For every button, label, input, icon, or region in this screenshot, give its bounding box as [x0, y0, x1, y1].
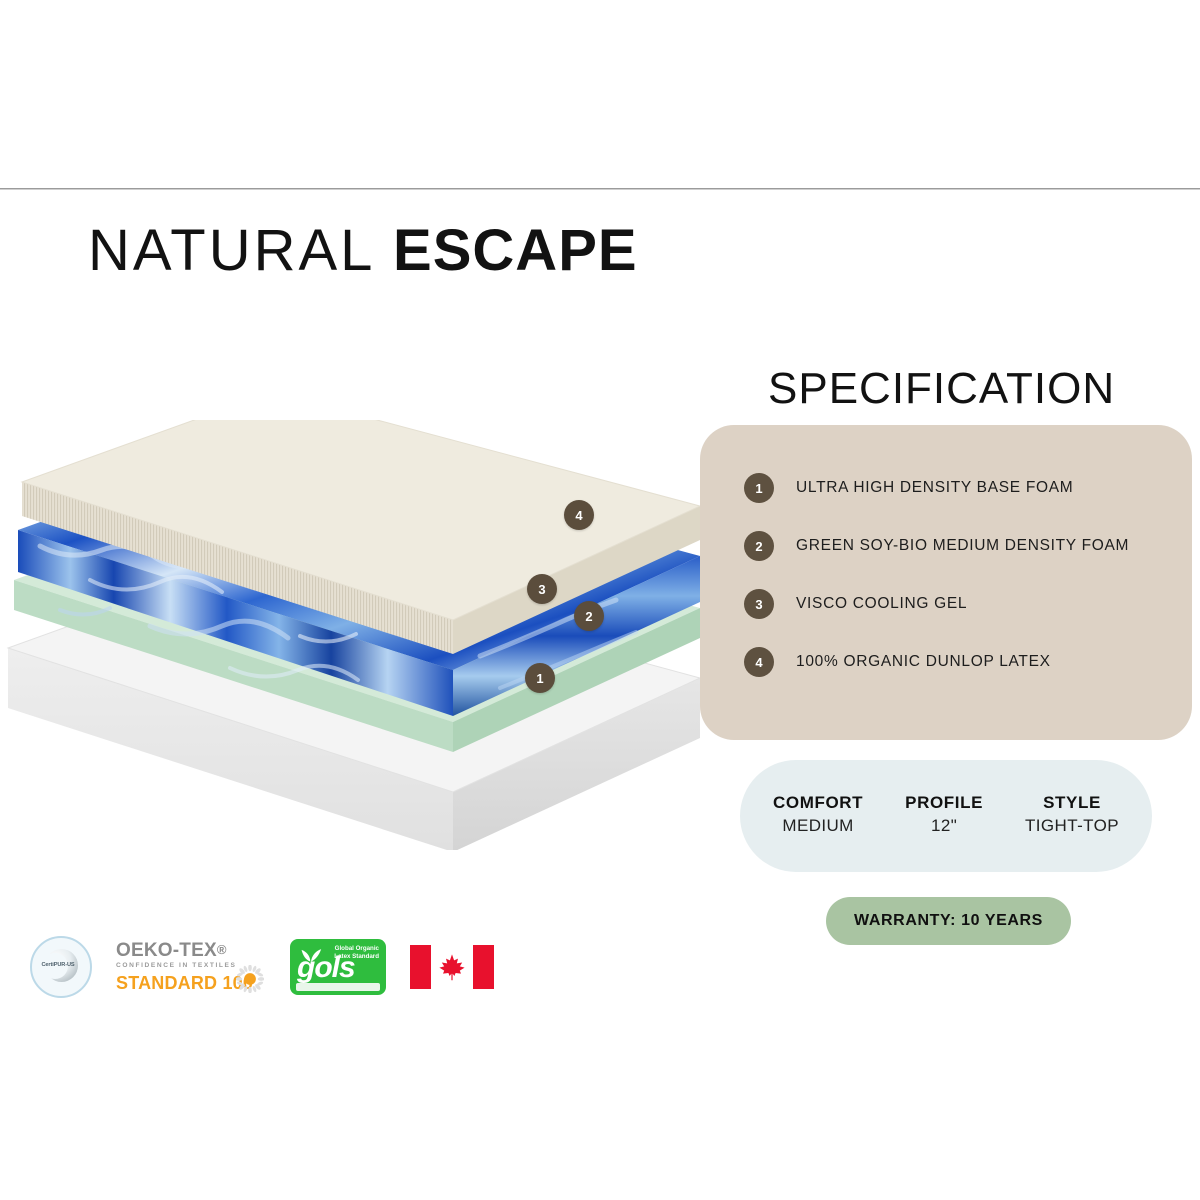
- oeko-tex-icon: OEKO-TEX® CONFIDENCE IN TEXTILES STANDAR…: [116, 941, 266, 993]
- spec-label-4: 100% ORGANIC DUNLOP LATEX: [796, 653, 1051, 671]
- specification-list: 1 ULTRA HIGH DENSITY BASE FOAM 2 GREEN S…: [744, 473, 1184, 677]
- certipur-us-icon: CertiPUR-US: [30, 936, 92, 998]
- diagram-badge-2: 2: [574, 601, 604, 631]
- attribute-style-value: TIGHT-TOP: [1025, 815, 1119, 838]
- attribute-profile-value: 12": [905, 815, 983, 838]
- spec-number-1: 1: [744, 473, 774, 503]
- attributes-pill: COMFORT MEDIUM PROFILE 12" STYLE TIGHT-T…: [740, 760, 1152, 872]
- maple-leaf-icon: [437, 952, 467, 982]
- page-title: NATURAL ESCAPE: [88, 222, 638, 280]
- page-title-bold: ESCAPE: [393, 218, 638, 283]
- flag-center-panel: [431, 945, 473, 989]
- attribute-profile-label: PROFILE: [905, 792, 983, 815]
- attribute-comfort-value: MEDIUM: [773, 815, 863, 838]
- spec-number-4: 4: [744, 647, 774, 677]
- gols-icon: Global Organic Latex Standard gols: [290, 939, 386, 995]
- canada-flag-icon: [410, 945, 494, 989]
- attribute-comfort: COMFORT MEDIUM: [773, 792, 863, 838]
- gols-base-strip: [296, 983, 380, 991]
- certification-logos: CertiPUR-US OEKO-TEX® CONFIDENCE IN TEXT…: [30, 936, 494, 998]
- attribute-profile: PROFILE 12": [905, 792, 983, 838]
- spec-item-3: 3 VISCO COOLING GEL: [744, 589, 1184, 619]
- diagram-badge-4: 4: [564, 500, 594, 530]
- spec-item-1: 1 ULTRA HIGH DENSITY BASE FOAM: [744, 473, 1184, 503]
- product-spec-page: NATURAL ESCAPE: [0, 0, 1200, 1200]
- spec-label-1: ULTRA HIGH DENSITY BASE FOAM: [796, 479, 1073, 497]
- spec-item-4: 4 100% ORGANIC DUNLOP LATEX: [744, 647, 1184, 677]
- sunburst-flower-icon: [236, 965, 264, 993]
- spec-label-2: GREEN SOY-BIO MEDIUM DENSITY FOAM: [796, 537, 1129, 555]
- warranty-badge: WARRANTY: 10 YEARS: [826, 897, 1071, 945]
- spec-label-3: VISCO COOLING GEL: [796, 595, 967, 613]
- spec-number-2: 2: [744, 531, 774, 561]
- page-title-light: NATURAL: [88, 218, 375, 283]
- header-divider: [0, 188, 1200, 190]
- mattress-layers-diagram: [0, 420, 700, 850]
- warranty-text: WARRANTY: 10 YEARS: [854, 912, 1043, 930]
- certipur-us-label: CertiPUR-US: [36, 962, 80, 968]
- oeko-tex-title-text: OEKO-TEX: [116, 940, 217, 961]
- attribute-style-label: STYLE: [1025, 792, 1119, 815]
- registered-mark-icon: ®: [217, 942, 227, 957]
- spec-number-3: 3: [744, 589, 774, 619]
- specification-panel: 1 ULTRA HIGH DENSITY BASE FOAM 2 GREEN S…: [700, 425, 1192, 740]
- flag-band-right: [473, 945, 494, 989]
- gols-wordmark: gols: [297, 953, 355, 983]
- oeko-tex-title: OEKO-TEX®: [116, 941, 266, 960]
- spec-item-2: 2 GREEN SOY-BIO MEDIUM DENSITY FOAM: [744, 531, 1184, 561]
- diagram-badge-3: 3: [527, 574, 557, 604]
- attribute-style: STYLE TIGHT-TOP: [1025, 792, 1119, 838]
- specification-heading: SPECIFICATION: [768, 364, 1115, 414]
- diagram-badge-1: 1: [525, 663, 555, 693]
- attribute-comfort-label: COMFORT: [773, 792, 863, 815]
- flag-band-left: [410, 945, 431, 989]
